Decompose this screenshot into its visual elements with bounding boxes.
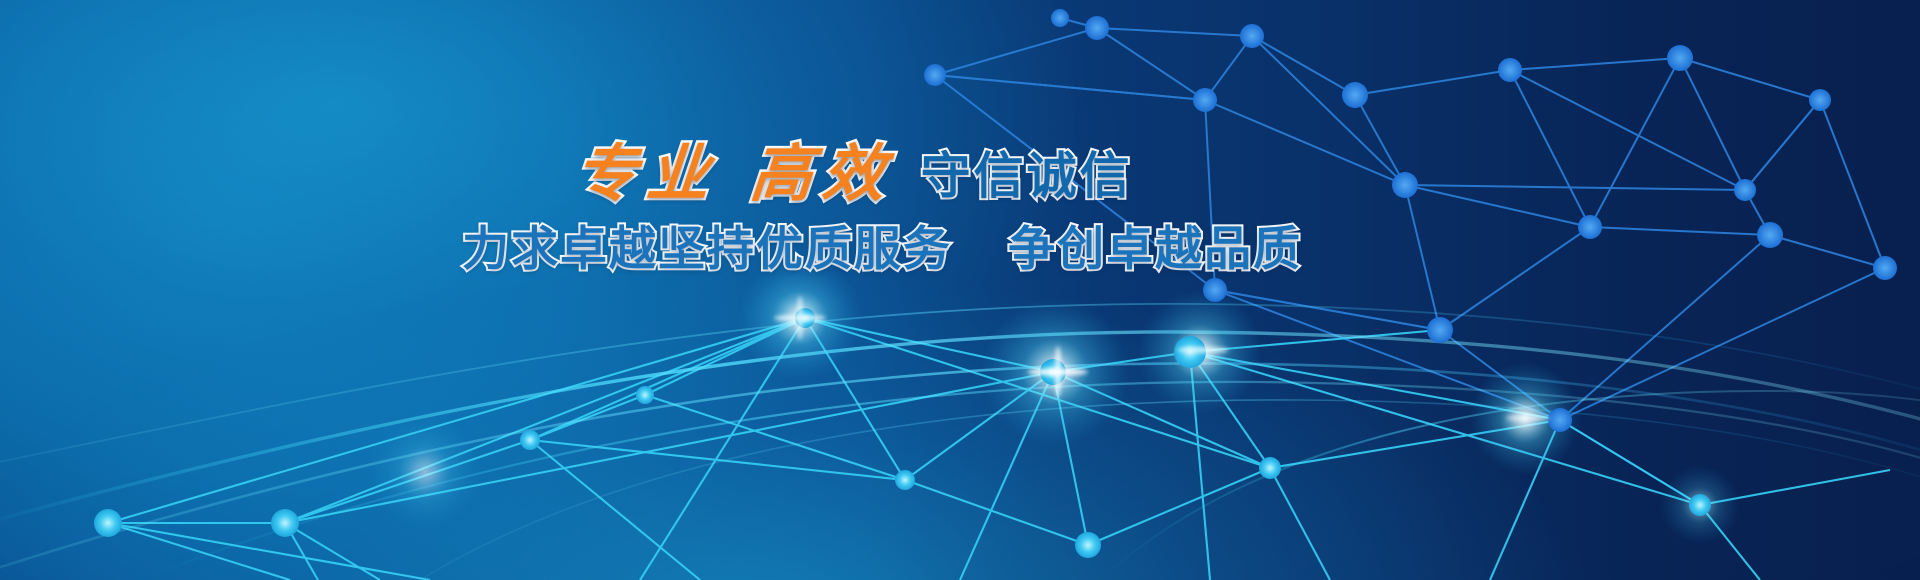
vignette-overlay [0,0,1920,580]
hero-banner: 专业 高效 守信诚信 力求卓越坚持优质服务 争创卓越品质 [0,0,1920,580]
